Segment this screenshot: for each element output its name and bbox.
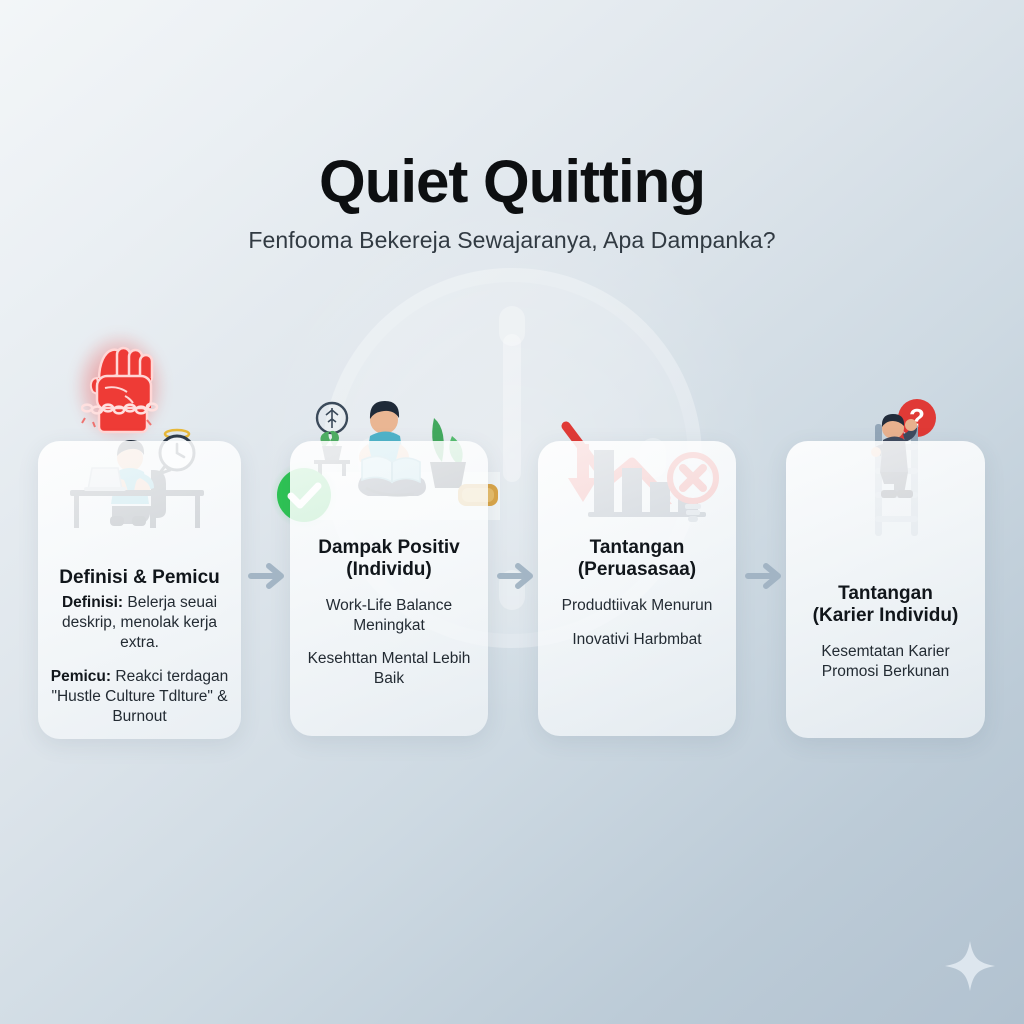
card-definisi-pemicu[interactable]: Definisi & Pemicu Definisi: Belerja seua… bbox=[38, 441, 241, 739]
card-title: Tantangan (Peruasasaa) bbox=[548, 537, 726, 582]
card-title-line1: Tantangan bbox=[796, 583, 975, 605]
card-title-line1: Tantangan bbox=[548, 537, 726, 559]
card-body: Dampak Positiv (Individu) Work-Life Bala… bbox=[290, 537, 488, 689]
card-title: Tantangan (Karier Individu) bbox=[796, 583, 975, 628]
card-body: Definisi & Pemicu Definisi: Belerja seua… bbox=[38, 567, 241, 726]
pemicu-label: Pemicu: bbox=[51, 668, 111, 685]
card-line-1: Work-Life Balance Meningkat bbox=[300, 596, 478, 636]
card-title: Definisi & Pemicu bbox=[48, 567, 231, 589]
card-block-definisi: Definisi: Belerja seuai deskrip, menolak… bbox=[48, 593, 231, 652]
flow-arrow-3-icon bbox=[744, 556, 788, 596]
card-tantangan-perusahaan[interactable]: Tantangan (Peruasasaa) Produdtiivak Menu… bbox=[538, 441, 736, 736]
card-line-2: Kesehttan Mental Lebih Baik bbox=[300, 649, 478, 689]
card-title-line2: (Peruasasaa) bbox=[548, 559, 726, 581]
card-line-2: Inovativi Harbmbat bbox=[548, 630, 726, 650]
definisi-label: Definisi: bbox=[62, 594, 123, 611]
card-block-pemicu: Pemicu: Reakci terdagan "Hustle Culture … bbox=[48, 667, 231, 726]
page-title: Quiet Quitting bbox=[0, 150, 1024, 213]
card-dampak-positiv[interactable]: Dampak Positiv (Individu) Work-Life Bala… bbox=[290, 441, 488, 736]
card-line-1: Kesemtatan Karier Promosi Berkunan bbox=[796, 642, 975, 682]
flow-arrow-2-icon bbox=[496, 556, 540, 596]
flow-arrow-1-icon bbox=[247, 556, 291, 596]
card-title-line2: (Individu) bbox=[300, 559, 478, 581]
card-title: Dampak Positiv (Individu) bbox=[300, 537, 478, 582]
header: Quiet Quitting Fenfooma Bekereja Sewajar… bbox=[0, 150, 1024, 254]
card-tantangan-karier[interactable]: Tantangan (Karier Individu) Kesemtatan K… bbox=[786, 441, 985, 738]
card-body: Tantangan (Karier Individu) Kesemtatan K… bbox=[786, 583, 985, 681]
four-point-star-sparkle-icon bbox=[944, 940, 996, 992]
card-body: Tantangan (Peruasasaa) Produdtiivak Menu… bbox=[538, 537, 736, 649]
page-subtitle: Fenfooma Bekereja Sewajaranya, Apa Dampa… bbox=[0, 227, 1024, 254]
card-line-1: Produdtiivak Menurun bbox=[548, 596, 726, 616]
infographic-canvas: Quiet Quitting Fenfooma Bekereja Sewajar… bbox=[0, 0, 1024, 1024]
card-title-line1: Dampak Positiv bbox=[300, 537, 478, 559]
card-title-line2: (Karier Individu) bbox=[796, 605, 975, 627]
